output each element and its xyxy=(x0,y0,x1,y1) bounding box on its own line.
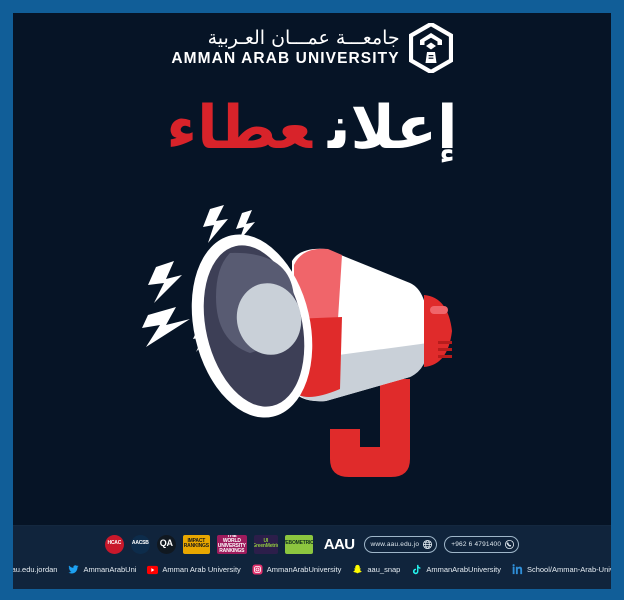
social-handle: aau.edu.jordan xyxy=(13,565,57,574)
globe-icon xyxy=(422,539,433,550)
social-tiktok[interactable]: AmmanArabUniversity xyxy=(411,564,501,575)
logo-arabic-name: جامعـــة عمـــان العـربية xyxy=(208,29,400,48)
phone-label: +962 6 4791400 xyxy=(451,541,501,548)
social-links-row: aau.edu.jordan AmmanArabUni Amman Arab U… xyxy=(13,557,611,575)
website-badge[interactable]: www.aau.edu.jo xyxy=(364,536,438,553)
accreditation-badge-the-ranking[interactable]: THE WORLD UNIVERSITY RANKINGS xyxy=(217,535,247,554)
poster-frame: جامعـــة عمـــان العـربية AMMAN ARAB UNI… xyxy=(0,0,624,600)
accreditation-badge-hcac[interactable]: HCAC xyxy=(105,535,124,554)
social-youtube[interactable]: Amman Arab University xyxy=(147,564,240,575)
headline-word-white: إعلان xyxy=(328,93,458,163)
badge-label: THE WORLD UNIVERSITY RANKINGS xyxy=(218,535,246,554)
megaphone-cap-highlight xyxy=(430,306,448,314)
page-title: إعلانعطاء xyxy=(13,97,611,160)
social-handle: AmmanArabUniversity xyxy=(426,565,501,574)
badge-label: QA xyxy=(160,539,173,548)
social-handle: aau_snap xyxy=(367,565,400,574)
social-snapchat[interactable]: aau_snap xyxy=(352,564,400,575)
phone-icon xyxy=(504,539,515,550)
tiktok-icon xyxy=(411,564,422,575)
social-handle: Amman Arab University xyxy=(162,565,240,574)
linkedin-icon xyxy=(512,564,523,575)
headline-word-red: عطاء xyxy=(166,93,312,163)
social-linkedin[interactable]: School/Amman-Arab-University xyxy=(512,564,611,575)
hexagon-monogram-icon xyxy=(409,23,453,73)
social-instagram[interactable]: AmmanArabUniversity xyxy=(252,564,342,575)
badge-label: HCAC xyxy=(107,541,121,546)
social-handle: AmmanArabUni xyxy=(83,565,136,574)
social-twitter[interactable]: AmmanArabUni xyxy=(68,564,136,575)
footer-bar: HCAC AACSB QA IMPACT RANKINGS THE WORLD … xyxy=(13,525,611,589)
accreditation-badge-qa[interactable]: QA xyxy=(157,535,176,554)
accreditation-badge-ui-greenmetric[interactable]: UI GreenMetric xyxy=(254,535,278,554)
university-logo: جامعـــة عمـــان العـربية AMMAN ARAB UNI… xyxy=(13,23,611,73)
badge-label: IMPACT RANKINGS xyxy=(184,539,209,550)
badge-label: UI GreenMetric xyxy=(254,539,278,550)
accreditation-badge-aacsb[interactable]: AACSB xyxy=(131,535,150,554)
snapchat-icon xyxy=(352,564,363,575)
accreditation-badges-row: HCAC AACSB QA IMPACT RANKINGS THE WORLD … xyxy=(13,526,611,557)
social-facebook[interactable]: aau.edu.jordan xyxy=(13,564,57,575)
accreditation-badge-impact-rankings[interactable]: IMPACT RANKINGS xyxy=(183,535,210,554)
logo-text-block: جامعـــة عمـــان العـربية AMMAN ARAB UNI… xyxy=(171,29,399,67)
logo-english-name: AMMAN ARAB UNIVERSITY xyxy=(171,51,399,67)
megaphone-cap-grooves xyxy=(438,341,452,358)
phone-badge[interactable]: +962 6 4791400 xyxy=(444,536,519,553)
website-label: www.aau.edu.jo xyxy=(371,541,420,548)
instagram-icon xyxy=(252,564,263,575)
poster-canvas: جامعـــة عمـــان العـربية AMMAN ARAB UNI… xyxy=(13,13,611,589)
badge-label: WEBOMETRICS xyxy=(285,541,313,546)
twitter-icon xyxy=(68,564,79,575)
youtube-icon xyxy=(147,564,158,575)
social-handle: AmmanArabUniversity xyxy=(267,565,342,574)
aau-wordmark: AAU xyxy=(324,536,355,553)
badge-label: AACSB xyxy=(132,541,149,546)
social-handle: School/Amman-Arab-University xyxy=(527,565,611,574)
accreditation-badge-webometrics[interactable]: WEBOMETRICS xyxy=(285,535,313,554)
megaphone-illustration xyxy=(142,191,482,491)
